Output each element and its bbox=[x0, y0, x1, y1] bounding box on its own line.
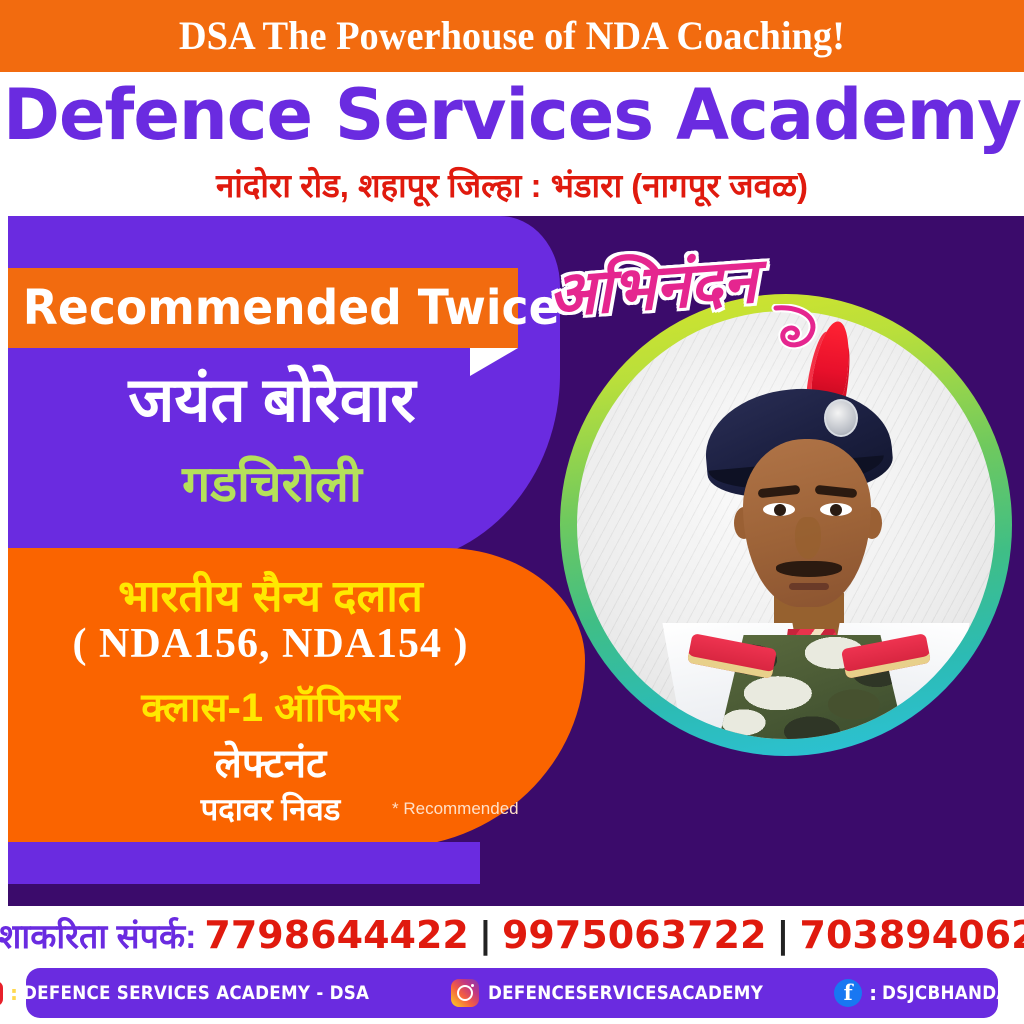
facebook-handle: DSJCBHANDARA bbox=[882, 982, 1024, 1004]
tagline-suffix: Coaching! bbox=[667, 13, 845, 58]
class-line: क्लास-1 ऑफिसर bbox=[8, 678, 533, 733]
phone-number-2[interactable]: 9975063722 bbox=[502, 913, 766, 957]
instagram-handle: DEFENCESERVICESACADEMY bbox=[488, 982, 763, 1004]
facebook-icon[interactable]: f bbox=[834, 979, 862, 1007]
youtube-icon[interactable] bbox=[0, 981, 3, 1006]
candidate-city: गडचिरोली bbox=[12, 448, 532, 516]
academy-name: Defence Services Academy bbox=[10, 76, 1014, 154]
photo-area bbox=[577, 311, 995, 739]
instagram-icon[interactable] bbox=[451, 979, 479, 1007]
exam-line: ( NDA156, NDA154 ) bbox=[8, 620, 533, 668]
youtube-colon: : bbox=[10, 981, 18, 1005]
social-item-instagram[interactable]: DEFENCESERVICESACADEMY bbox=[451, 979, 801, 1007]
tagline-prefix: DSA bbox=[179, 13, 254, 58]
contact-label: प्रवेशाकरिता संपर्क: bbox=[0, 912, 196, 958]
phone-separator-2: | bbox=[776, 915, 789, 956]
facebook-colon: : bbox=[869, 981, 877, 1005]
pupil-left bbox=[774, 504, 786, 516]
youtube-handle: DEFENCE SERVICES ACADEMY - DSA bbox=[23, 982, 369, 1004]
social-item-facebook[interactable]: f : DSJCBHANDARA bbox=[834, 979, 1024, 1007]
tagline-mid: The Powerhouse of bbox=[254, 13, 586, 58]
pupil-right bbox=[830, 504, 842, 516]
recommended-note: * Recommended bbox=[392, 799, 519, 819]
academy-address: नांदोरा रोड, शहापूर जिल्हा : भंडारा (नाग… bbox=[0, 160, 1024, 208]
phone-separator-1: | bbox=[479, 915, 492, 956]
phone-number-1[interactable]: 7798644422 bbox=[204, 913, 468, 957]
poster-body: Recommended Twice जयंत बोरेवार गडचिरोली … bbox=[0, 216, 1024, 906]
nose bbox=[795, 517, 821, 559]
social-item-youtube[interactable]: : DEFENCE SERVICES ACADEMY - DSA bbox=[0, 981, 417, 1006]
candidate-name: जयंत बोरेवार bbox=[12, 368, 532, 433]
force-line: भारतीय सैन्य दलात bbox=[8, 564, 533, 624]
tagline-bar: DSA The Powerhouse of NDA Coaching! bbox=[0, 0, 1024, 72]
dark-purple-bottom-bar bbox=[0, 884, 1024, 906]
tagline-nda: NDA bbox=[586, 13, 667, 58]
congratulations-script-text: अभिनंदन bbox=[545, 237, 759, 335]
moustache bbox=[776, 561, 842, 577]
purple-bottom-bar bbox=[0, 842, 480, 884]
promotional-poster: DSA The Powerhouse of NDA Coaching! Defe… bbox=[0, 0, 1024, 1024]
contact-row: प्रवेशाकरिता संपर्क: 7798644422 | 997506… bbox=[0, 906, 1024, 964]
cadet-portrait bbox=[577, 311, 995, 739]
facebook-f-glyph: f bbox=[844, 982, 853, 1003]
recommended-twice-ribbon: Recommended Twice bbox=[0, 268, 518, 348]
ribbon-label: Recommended Twice bbox=[0, 280, 560, 336]
mouth bbox=[789, 583, 829, 590]
phone-number-3[interactable]: 7038940620 bbox=[800, 913, 1024, 957]
cap-badge-icon bbox=[824, 399, 858, 437]
rank-line: लेफ्टनंट bbox=[8, 734, 533, 789]
left-white-strip bbox=[0, 216, 8, 906]
social-links-bar: : DEFENCE SERVICES ACADEMY - DSA DEFENCE… bbox=[26, 968, 998, 1018]
tagline-text: DSA The Powerhouse of NDA Coaching! bbox=[179, 16, 845, 56]
script-swirl-icon bbox=[770, 304, 822, 356]
cadet-photo-frame bbox=[560, 294, 1012, 756]
